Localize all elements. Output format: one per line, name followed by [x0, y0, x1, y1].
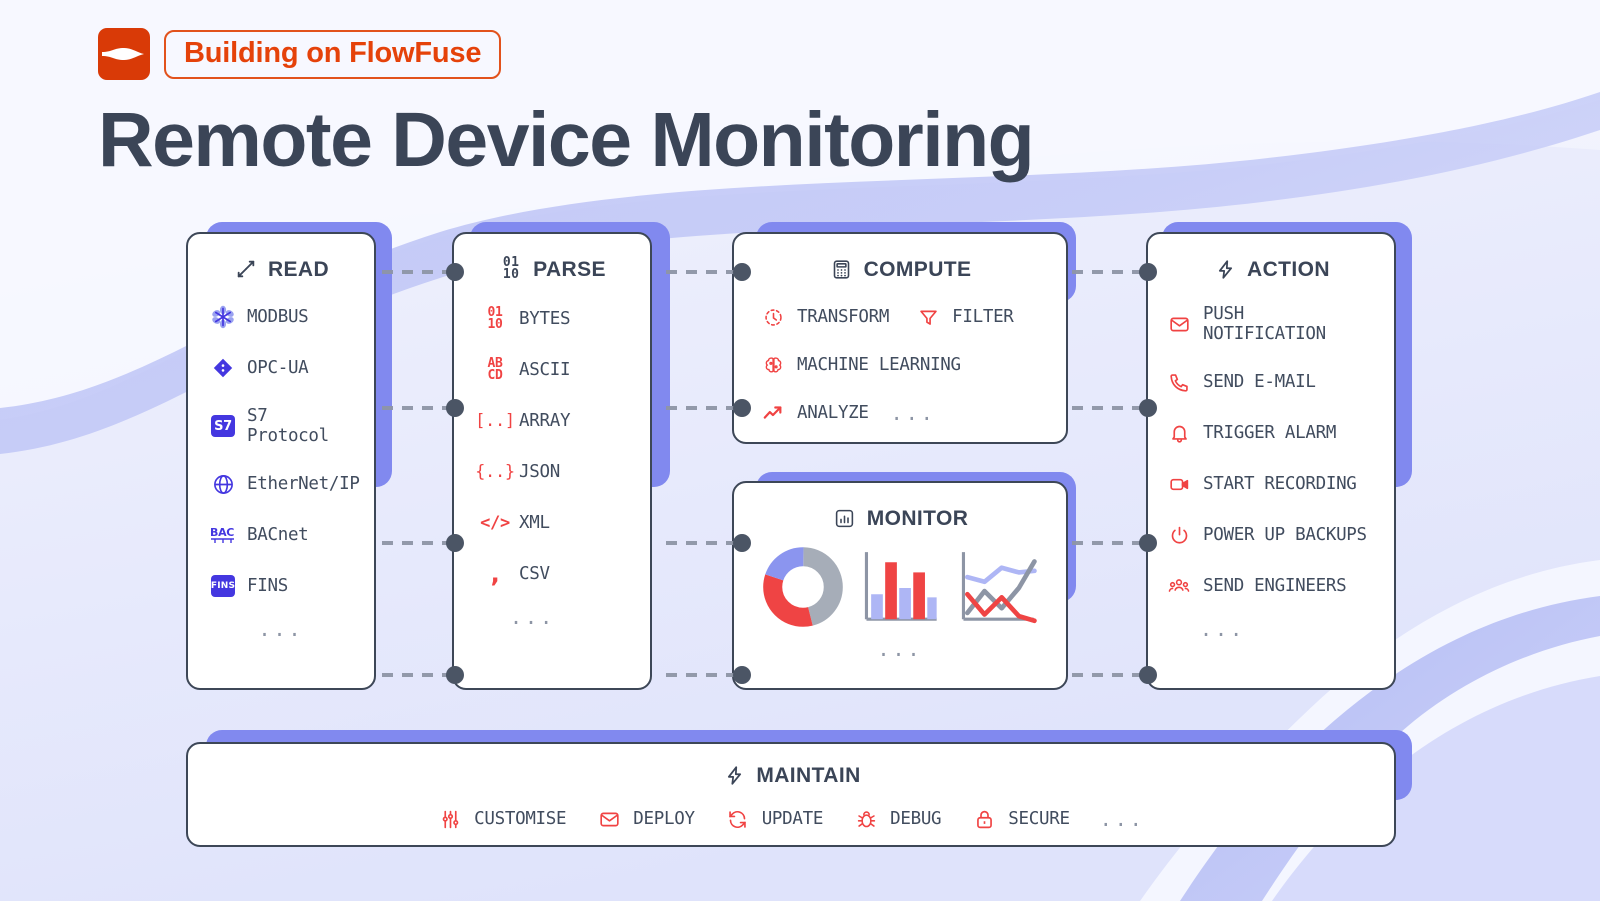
building-on-flowfuse-badge: Building on FlowFuse: [164, 30, 501, 79]
brand-badge-row: Building on FlowFuse: [98, 28, 1033, 80]
page-header: Building on FlowFuse Remote Device Monit…: [98, 28, 1033, 179]
flowfuse-logo-icon: [98, 28, 150, 80]
page-title: Remote Device Monitoring: [98, 102, 1033, 179]
connector-endpoints: [446, 263, 1157, 684]
